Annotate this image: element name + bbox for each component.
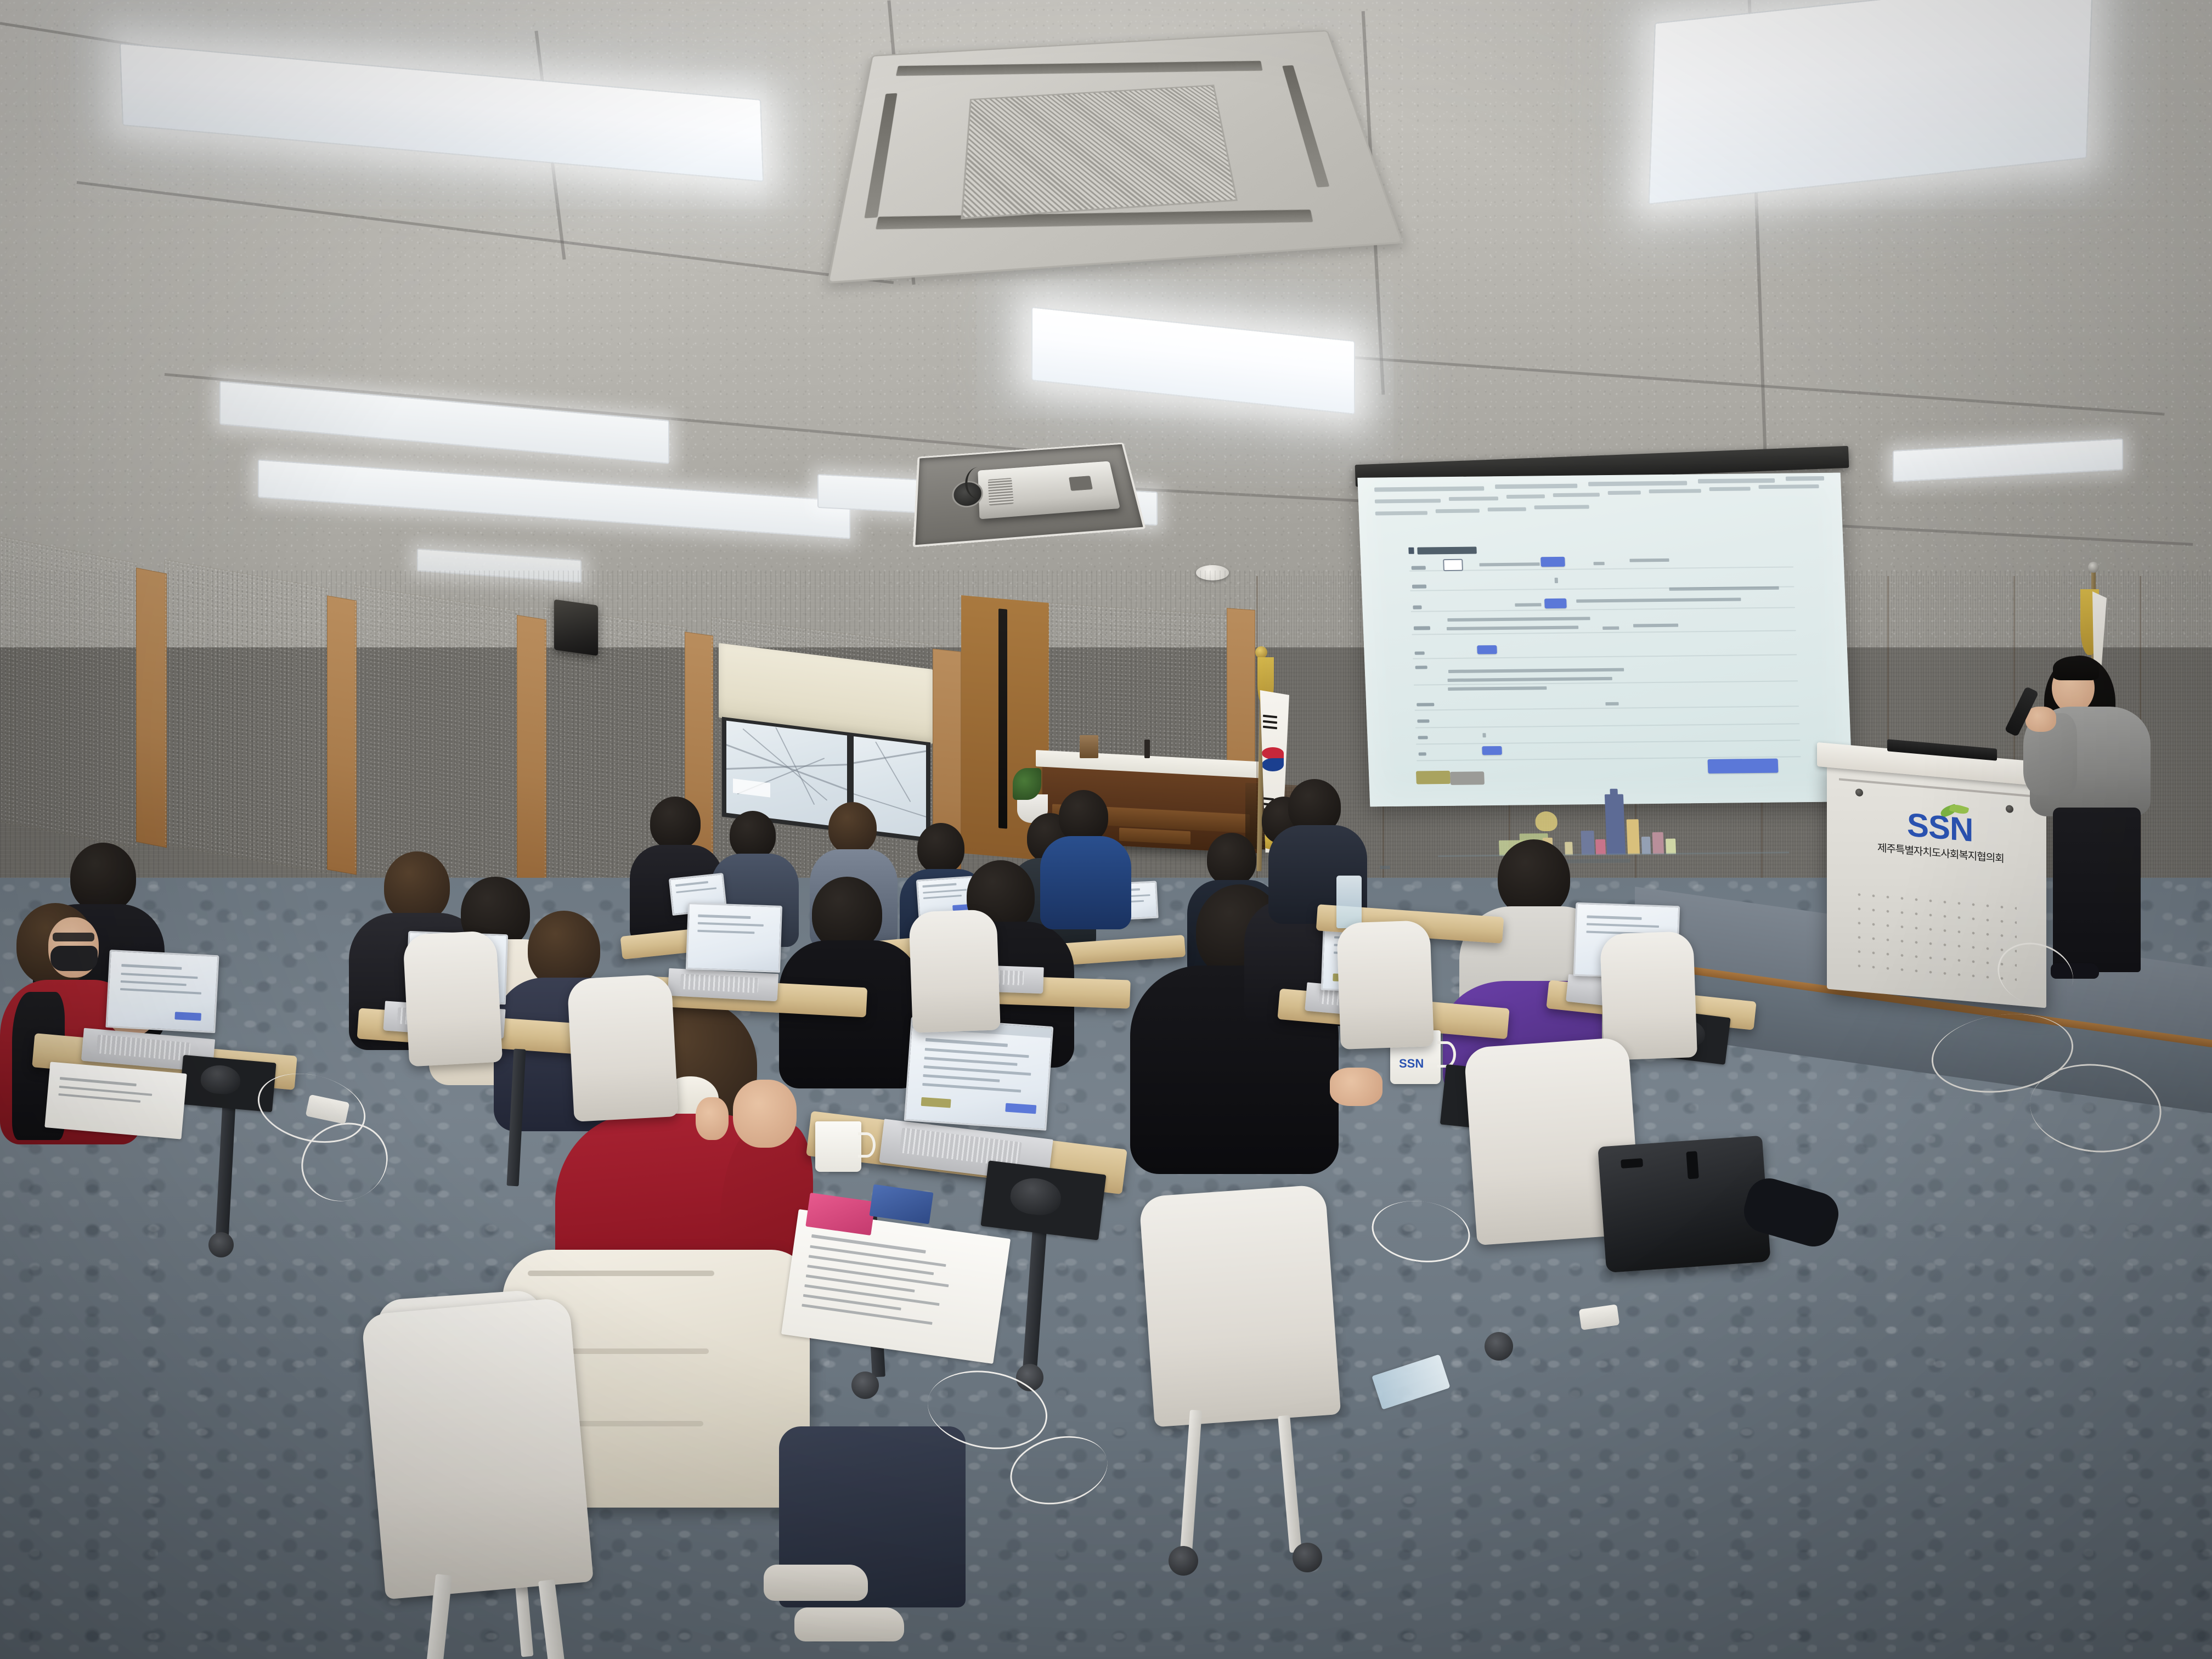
- form-label: [1415, 665, 1427, 669]
- air-conditioner-unit: [827, 30, 1403, 284]
- chair[interactable]: [403, 930, 503, 1067]
- door-gap: [998, 608, 1007, 828]
- attendee-hand: [1330, 1068, 1383, 1106]
- face-mask: [50, 946, 98, 971]
- attendee-neck: [696, 1097, 729, 1140]
- form-label: [1412, 584, 1426, 588]
- mug[interactable]: [815, 1121, 861, 1172]
- potted-plant: [1013, 768, 1041, 800]
- projector: [978, 461, 1120, 520]
- podium-screw: [1855, 788, 1863, 797]
- attendee-head: [812, 877, 882, 950]
- attendee-head: [1498, 839, 1570, 916]
- attendee-hand: [733, 1080, 797, 1148]
- eyeglasses: [53, 933, 94, 941]
- page-heading: [1417, 547, 1477, 555]
- flagpole-finial: [1255, 646, 1267, 658]
- chip-button[interactable]: [1544, 599, 1567, 608]
- chair[interactable]: [909, 909, 1001, 1032]
- mug-handle: [1437, 1041, 1456, 1068]
- form-label: [1413, 606, 1421, 610]
- wall-speaker: [554, 599, 598, 656]
- window-glass: [726, 721, 847, 828]
- attendee-head: [1059, 790, 1108, 843]
- mug-logo: SSN: [1399, 1057, 1432, 1068]
- presenter-fringe: [2053, 656, 2099, 680]
- attendee-head: [1207, 833, 1256, 885]
- podium-screw: [2006, 805, 2013, 813]
- wall-pilaster: [517, 615, 546, 883]
- laptop-screen: [686, 902, 782, 973]
- heading-bullet: [1408, 548, 1414, 554]
- handout-paper[interactable]: [44, 1062, 187, 1139]
- chip-button[interactable]: [1482, 746, 1502, 755]
- attendee-head: [828, 802, 877, 854]
- cancel-button[interactable]: [1450, 771, 1485, 785]
- form-label: [1417, 703, 1434, 706]
- attendee-blue-shirt: [1040, 836, 1131, 929]
- form-label: [1419, 752, 1426, 755]
- projector-panel: [1069, 476, 1093, 491]
- backpack-strap: [1621, 1158, 1643, 1169]
- wall-pilaster: [136, 568, 167, 848]
- attendee-head: [384, 851, 450, 922]
- laptop-base[interactable]: [668, 968, 778, 1001]
- chair-caster: [1169, 1546, 1198, 1576]
- podium-perforation: [1852, 887, 2017, 984]
- chip-button[interactable]: [1477, 645, 1497, 654]
- backpack-zipper: [1686, 1151, 1699, 1179]
- form-label: [1418, 736, 1427, 739]
- foreground-chair[interactable]: [361, 1297, 594, 1599]
- form-label: [1414, 626, 1430, 630]
- projector-mount: [913, 443, 1146, 548]
- piano-photo-frame: [1080, 735, 1098, 758]
- chair[interactable]: [567, 974, 678, 1122]
- projection-screen: [1357, 473, 1853, 807]
- form-select[interactable]: [1443, 559, 1463, 571]
- wall-pilaster: [327, 595, 357, 875]
- wall-panel: [0, 534, 137, 848]
- submit-button[interactable]: [1708, 759, 1779, 774]
- laptop-screen: [904, 1017, 1054, 1131]
- water-bottle[interactable]: [1336, 876, 1362, 928]
- seminar-room-photo: SSN 제주특별자치도사회복지협의회: [0, 0, 2212, 1659]
- flagpole-finial: [2088, 562, 2099, 573]
- laptop-screen: [105, 950, 219, 1033]
- chair-caster: [1293, 1543, 1322, 1572]
- mug-handle: [858, 1132, 876, 1158]
- chair[interactable]: [1336, 920, 1434, 1049]
- attendee-head: [917, 823, 964, 873]
- laptop-keyboard[interactable]: [899, 1127, 1022, 1167]
- attendee-head: [650, 797, 701, 849]
- balloon-icon: [1535, 811, 1558, 831]
- desk-caster: [851, 1372, 879, 1399]
- form-label: [1412, 566, 1426, 569]
- save-draft-button[interactable]: [1416, 771, 1451, 785]
- form-label: [1417, 719, 1429, 723]
- ac-grille: [961, 84, 1238, 219]
- wall-panel: [354, 585, 519, 896]
- attendee-head: [730, 811, 776, 859]
- chip-button[interactable]: [1541, 557, 1565, 567]
- building-icon: [1605, 794, 1626, 855]
- desk-caster: [208, 1232, 234, 1257]
- wall-panel: [165, 560, 329, 874]
- piano-metronome: [1144, 740, 1150, 758]
- form-label: [1415, 651, 1425, 654]
- attendee-shoe: [764, 1565, 868, 1601]
- chair-caster: [1485, 1332, 1513, 1361]
- attendee-head: [528, 911, 600, 988]
- attendee-shoe: [794, 1607, 904, 1641]
- chair[interactable]: [1139, 1184, 1341, 1427]
- attendee-head: [70, 843, 136, 912]
- presenter-trousers: [2053, 808, 2141, 972]
